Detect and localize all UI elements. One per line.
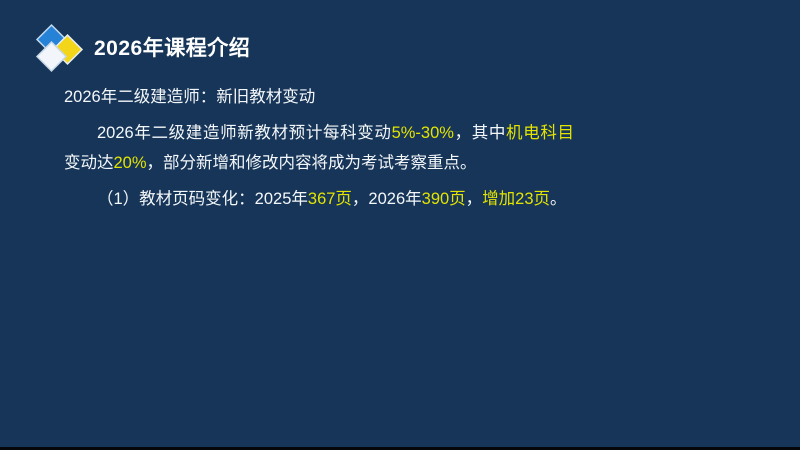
highlighted-text: 390页 <box>422 190 466 208</box>
presentation-slide: 2026年课程介绍 2026年二级建造师：新旧教材变动2026年二级建造师新教材… <box>0 0 800 450</box>
slide-body-text: 2026年二级建造师：新旧教材变动2026年二级建造师新教材预计每科变动5%-3… <box>64 82 574 220</box>
body-text: （1）教材页码变化：2025年 <box>97 190 308 208</box>
slide-header: 2026年课程介绍 <box>36 24 250 70</box>
paragraph: （1）教材页码变化：2025年367页，2026年390页，增加23页。 <box>64 184 574 214</box>
highlighted-text: 机电科目 <box>506 124 574 142</box>
paragraph: 2026年二级建造师：新旧教材变动 <box>64 82 574 112</box>
body-text: 2026年二级建造师新教材预计每科变动 <box>97 124 392 142</box>
paragraph: 2026年二级建造师新教材预计每科变动5%-30%，其中机电科目变动达20%，部… <box>64 118 574 178</box>
body-text: ， <box>466 190 483 208</box>
highlighted-text: 20% <box>114 154 147 172</box>
slide-title: 2026年课程介绍 <box>94 32 250 62</box>
highlighted-text: 5%-30% <box>392 124 454 142</box>
body-text: 2026年二级建造师：新旧教材变动 <box>64 88 315 106</box>
body-text: ，其中 <box>454 124 506 142</box>
highlighted-text: 增加23页 <box>482 190 550 208</box>
highlighted-text: 367页 <box>308 190 352 208</box>
body-text: ，2026年 <box>352 190 422 208</box>
body-text: 变动达 <box>64 154 114 172</box>
body-text: 。 <box>550 190 567 208</box>
three-diamonds-logo-icon <box>36 24 90 70</box>
body-text: ，部分新增和修改内容将成为考试考察重点。 <box>147 154 477 172</box>
